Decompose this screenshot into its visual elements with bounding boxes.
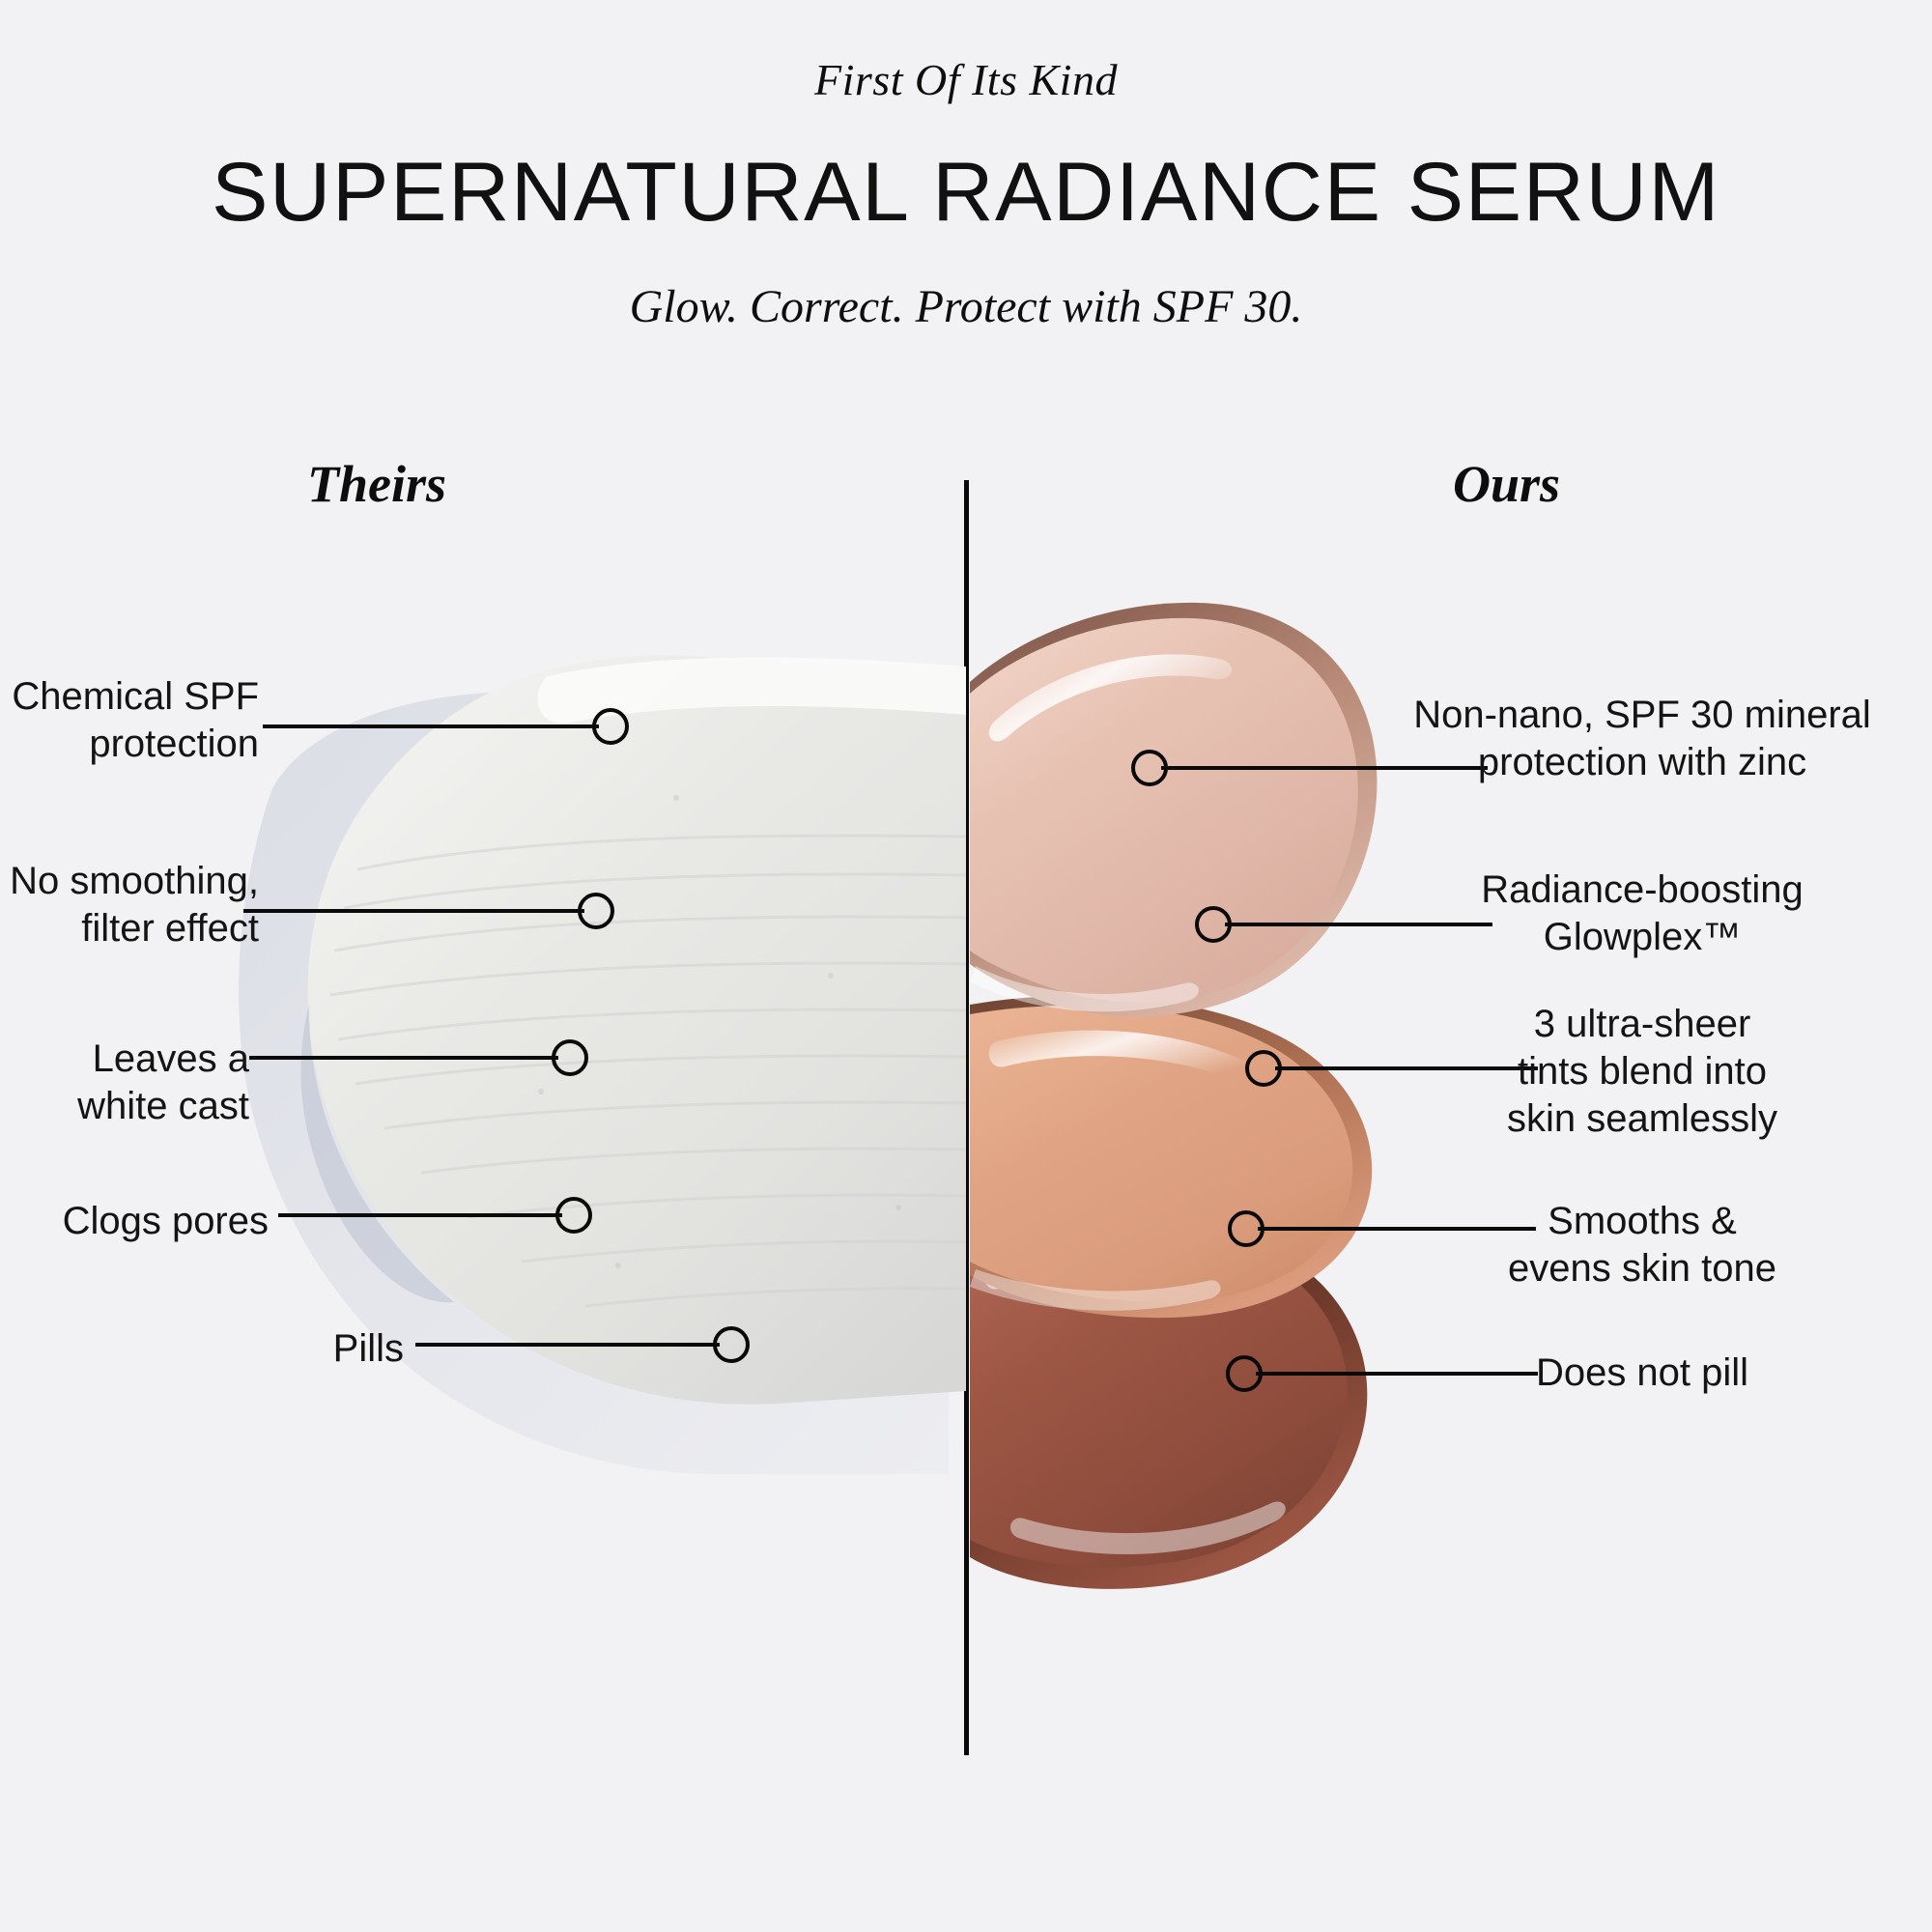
callout-label-smooths-evens-skin-tone: Smooths & evens skin tone [1372, 1198, 1913, 1293]
callout-label-no-smoothing-filter-effect: No smoothing, filter effect [10, 858, 259, 952]
callout-dot-non-nano-spf-30-mineral-protection[interactable] [1133, 752, 1166, 784]
callout-lines-layer [0, 0, 1932, 1932]
callout-dot-radiance-boosting-glowplex[interactable] [1197, 908, 1230, 941]
callout-label-chemical-spf-protection: Chemical SPF protection [12, 673, 259, 768]
callout-dot-leaves-a-white-cast[interactable] [554, 1041, 586, 1074]
callout-label-non-nano-spf-30-mineral-protection: Non-nano, SPF 30 mineral protection with… [1372, 692, 1913, 786]
callout-dot-3-ultra-sheer-tints[interactable] [1247, 1052, 1280, 1085]
callout-dot-clogs-pores[interactable] [557, 1199, 590, 1232]
callout-dot-does-not-pill[interactable] [1228, 1357, 1261, 1390]
callout-label-pills: Pills [333, 1325, 404, 1373]
callout-label-clogs-pores: Clogs pores [63, 1198, 269, 1245]
callout-dot-chemical-spf-protection[interactable] [594, 710, 627, 743]
comparison-infographic: First Of Its Kind SUPERNATURAL RADIANCE … [0, 0, 1932, 1932]
callout-dot-no-smoothing-filter-effect[interactable] [580, 895, 612, 927]
callout-label-radiance-boosting-glowplex: Radiance-boosting Glowplex™ [1372, 867, 1913, 961]
callout-label-does-not-pill: Does not pill [1372, 1350, 1913, 1397]
callout-dot-smooths-evens-skin-tone[interactable] [1230, 1212, 1263, 1245]
callout-dot-pills[interactable] [715, 1328, 748, 1361]
callout-label-3-ultra-sheer-tints: 3 ultra-sheer tints blend into skin seam… [1372, 1001, 1913, 1142]
callout-label-leaves-a-white-cast: Leaves a white cast [77, 1036, 249, 1130]
